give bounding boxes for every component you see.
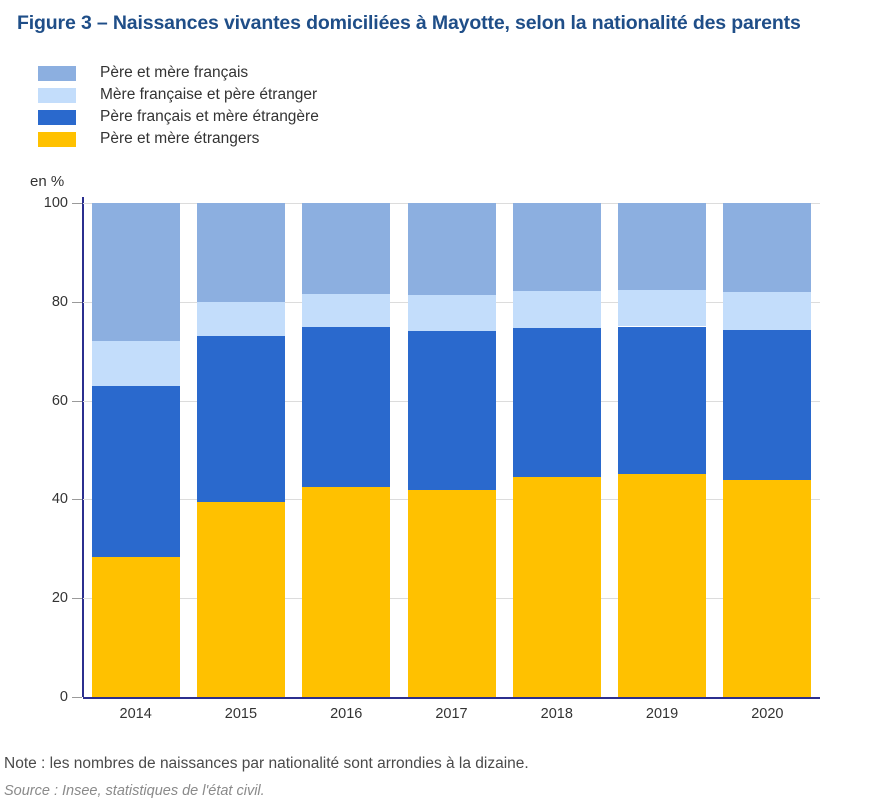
bar-segment[interactable]: [408, 490, 496, 697]
bar-segment[interactable]: [408, 331, 496, 489]
bar-segment[interactable]: [408, 295, 496, 331]
bar-stack[interactable]: [723, 203, 811, 697]
y-axis-unit-label: en %: [30, 173, 64, 190]
x-axis-tick-label: 2019: [609, 706, 714, 722]
bar-stack[interactable]: [618, 203, 706, 697]
x-axis-tick-label: 2016: [294, 706, 399, 722]
x-axis-tick-label: 2014: [83, 706, 188, 722]
legend-item-label: Mère française et père étranger: [100, 86, 317, 104]
y-axis-tick-label: 80: [28, 294, 68, 310]
bar-stack[interactable]: [92, 203, 180, 697]
bar-segment[interactable]: [513, 291, 601, 328]
bar-segment[interactable]: [513, 477, 601, 697]
bar-segment[interactable]: [618, 474, 706, 697]
source-text: Source : Insee, statistiques de l'état c…: [4, 783, 265, 799]
bar-segment[interactable]: [723, 203, 811, 292]
legend-item[interactable]: Mère française et père étranger: [38, 84, 319, 106]
bar-segment[interactable]: [618, 203, 706, 290]
page-title: Figure 3 – Naissances vivantes domicilié…: [17, 12, 857, 35]
y-axis-tick-label: 0: [28, 689, 68, 705]
bar-segment[interactable]: [92, 203, 180, 341]
bar-stack[interactable]: [513, 203, 601, 697]
bar-segment[interactable]: [197, 302, 285, 337]
y-axis-labels: 020406080100: [18, 203, 68, 697]
bar-segment[interactable]: [723, 330, 811, 480]
legend-item[interactable]: Père et mère étrangers: [38, 128, 319, 150]
gridline: [83, 697, 820, 699]
bar-segment[interactable]: [302, 327, 390, 487]
bar-segment[interactable]: [618, 327, 706, 474]
legend-item-label: Père et mère français: [100, 64, 248, 82]
legend-swatch-icon: [38, 88, 76, 103]
legend-swatch-icon: [38, 66, 76, 81]
bar-segment[interactable]: [302, 203, 390, 294]
bar-segment[interactable]: [197, 336, 285, 502]
bar-segment[interactable]: [92, 341, 180, 385]
y-axis-tick-label: 20: [28, 590, 68, 606]
x-axis-tick-label: 2015: [188, 706, 293, 722]
y-axis-tick: [72, 302, 82, 303]
legend-swatch-icon: [38, 132, 76, 147]
y-axis-tick: [72, 697, 82, 698]
bar-stack[interactable]: [408, 203, 496, 697]
y-axis-tick: [72, 203, 82, 204]
y-axis-tick: [72, 598, 82, 599]
bar-stack[interactable]: [197, 203, 285, 697]
y-axis-tick: [72, 499, 82, 500]
x-axis-tick-label: 2018: [504, 706, 609, 722]
legend-item-label: Père et mère étrangers: [100, 130, 259, 148]
y-axis-tick: [72, 401, 82, 402]
bar-segment[interactable]: [197, 502, 285, 697]
legend-item[interactable]: Père français et mère étrangère: [38, 106, 319, 128]
chart-legend: Père et mère françaisMère française et p…: [38, 62, 319, 150]
x-axis-tick-label: 2017: [399, 706, 504, 722]
bar-segment[interactable]: [723, 480, 811, 697]
note-text: Note : les nombres de naissances par nat…: [4, 755, 529, 773]
bar-segment[interactable]: [302, 487, 390, 697]
bar-segment[interactable]: [408, 203, 496, 295]
bar-segment[interactable]: [92, 386, 180, 557]
bar-segment[interactable]: [302, 294, 390, 327]
bar-stack[interactable]: [302, 203, 390, 697]
bar-segment[interactable]: [92, 557, 180, 697]
y-axis-tick-label: 40: [28, 491, 68, 507]
legend-swatch-icon: [38, 110, 76, 125]
plot-area: [83, 203, 820, 697]
bar-segment[interactable]: [513, 203, 601, 291]
legend-item-label: Père français et mère étrangère: [100, 108, 319, 126]
bar-segment[interactable]: [723, 292, 811, 330]
bar-segment[interactable]: [197, 203, 285, 302]
bar-segment[interactable]: [513, 328, 601, 476]
bar-segment[interactable]: [618, 290, 706, 326]
legend-item[interactable]: Père et mère français: [38, 62, 319, 84]
y-axis-tick-label: 100: [28, 195, 68, 211]
y-axis-tick-label: 60: [28, 393, 68, 409]
x-axis-tick-label: 2020: [715, 706, 820, 722]
